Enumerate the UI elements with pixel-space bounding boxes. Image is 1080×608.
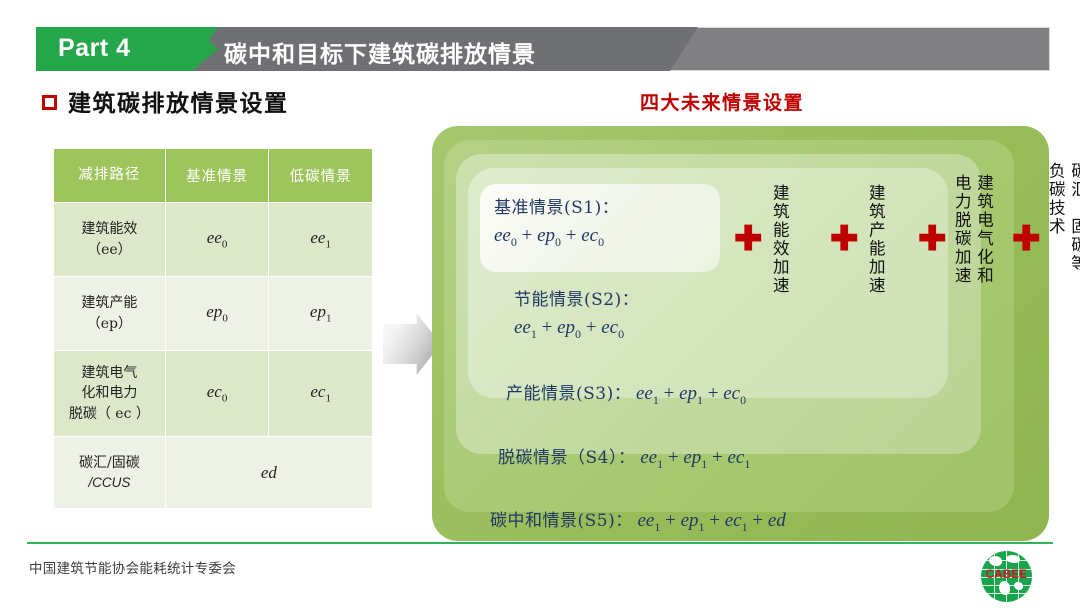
- cell-baseline-ep: ep0: [165, 277, 269, 351]
- value-ec1: ec1: [310, 382, 331, 401]
- scenario-equation-s3: ee1 + ep1 + ec0: [631, 383, 746, 404]
- plus-icon-1: ✚: [734, 222, 763, 256]
- col-header-path: 减排路径: [54, 149, 166, 203]
- slide-header-bar: Part 4 碳中和目标下建筑碳排放情景: [36, 27, 1050, 71]
- scenario-label-s1: 基准情景(S1)：: [494, 196, 619, 222]
- scenario-formula-s2: 节能情景(S2)： ee1 + ep0 + ec0: [514, 288, 639, 342]
- scenario-equation-s1: ee0 + ep0 + ec0: [494, 222, 619, 251]
- scenario-parameter-table: 减排路径 基准情景 低碳情景 建筑能效 （ee） ee0 ee1: [53, 148, 373, 509]
- plus-icon-2: ✚: [830, 222, 859, 256]
- cell-baseline-ee: ee0: [165, 203, 269, 277]
- table-row: 碳汇/固碳 /CCUS ed: [54, 437, 373, 509]
- scenario-label-s2: 节能情景(S2)：: [514, 288, 639, 314]
- value-ep0: ep0: [206, 302, 228, 321]
- scenario-formula-s5: 碳中和情景(S5)： ee1 + ep1 + ec1 + ed: [490, 506, 786, 535]
- cell-lowcarbon-ep: ep1: [269, 277, 373, 351]
- col-header-baseline: 基准情景: [165, 149, 269, 203]
- plus-icon-3: ✚: [918, 222, 947, 256]
- cell-path-ed-line2: /CCUS: [58, 473, 161, 493]
- plus-icon-4: ✚: [1012, 222, 1041, 256]
- table-row: 建筑产能 （ep） ep0 ep1: [54, 277, 373, 351]
- cell-path-ec-line1: 建筑电气: [58, 363, 161, 383]
- slide-canvas: Part 4 碳中和目标下建筑碳排放情景 建筑碳排放情景设置 四大未来情景设置 …: [0, 0, 1080, 608]
- cell-merged-ed: ed: [165, 437, 372, 509]
- scenario-equation-s4: ee1 + ep1 + ec1: [635, 447, 750, 468]
- slide-title: 碳中和目标下建筑碳排放情景: [224, 35, 536, 69]
- cell-baseline-ec: ec0: [165, 351, 269, 437]
- right-panel-heading: 四大未来情景设置: [640, 88, 804, 115]
- scenario-label-s3: 产能情景(S3)：: [506, 384, 631, 404]
- value-ed: ed: [261, 463, 277, 482]
- cell-path-ee: 建筑能效 （ee）: [54, 203, 166, 277]
- part-label: Part 4: [58, 34, 130, 63]
- driver-label-1: 建筑能效加速: [768, 184, 790, 295]
- future-scenario-panel: 基准情景(S1)： ee0 + ep0 + ec0 节能情景(S2)： ee1 …: [432, 126, 1049, 541]
- section-heading-label: 建筑碳排放情景设置: [68, 84, 289, 118]
- value-ep1: ep1: [310, 302, 332, 321]
- cell-path-ec-line3: 脱碳（ ec ）: [58, 404, 161, 424]
- scenario-formula-s1: 基准情景(S1)： ee0 + ep0 + ec0: [494, 196, 619, 250]
- scenario-formula-s4: 脱碳情景（S4）： ee1 + ep1 + ec1: [498, 443, 750, 472]
- scenario-equation-s5: ee1 + ep1 + ec1 + ed: [633, 510, 786, 531]
- cell-lowcarbon-ee: ee1: [269, 203, 373, 277]
- footer-divider: [27, 542, 1053, 544]
- cell-path-ec-line2: 化和电力: [58, 383, 161, 403]
- value-ee1: ee1: [310, 228, 331, 247]
- cell-path-ed: 碳汇/固碳 /CCUS: [54, 437, 166, 509]
- driver-label-4: 碳汇、固碳等负碳技术: [1044, 162, 1080, 274]
- table-row: 建筑能效 （ee） ee0 ee1: [54, 203, 373, 277]
- cell-path-ee-line1: 建筑能效: [58, 219, 161, 239]
- section-heading: 建筑碳排放情景设置: [42, 84, 289, 118]
- cell-path-ep: 建筑产能 （ep）: [54, 277, 166, 351]
- cell-path-ec: 建筑电气 化和电力 脱碳（ ec ）: [54, 351, 166, 437]
- bullet-square-icon: [42, 95, 57, 110]
- cabee-logo-text: CABEE: [981, 569, 1032, 581]
- driver-label-3: 建筑电气化和电力脱碳加速: [950, 174, 995, 302]
- col-header-lowcarbon: 低碳情景: [269, 149, 373, 203]
- cell-path-ed-line1: 碳汇/固碳: [58, 453, 161, 473]
- cell-path-ep-line2: （ep）: [58, 314, 161, 334]
- driver-label-2: 建筑产能加速: [864, 184, 886, 295]
- table-header-row: 减排路径 基准情景 低碳情景: [54, 149, 373, 203]
- cell-path-ee-line2: （ee）: [58, 240, 161, 260]
- scenario-formula-s3: 产能情景(S3)： ee1 + ep1 + ec0: [506, 379, 746, 408]
- scenario-label-s4: 脱碳情景（S4）：: [498, 448, 635, 468]
- value-ec0: ec0: [207, 382, 228, 401]
- scenario-equation-s2: ee1 + ep0 + ec0: [514, 314, 639, 343]
- cell-path-ep-line1: 建筑产能: [58, 293, 161, 313]
- value-ee0: ee0: [207, 228, 228, 247]
- cabee-logo: CABEE: [981, 551, 1032, 602]
- scenario-label-s5: 碳中和情景(S5)：: [490, 511, 633, 531]
- footer-organization: 中国建筑节能协会能耗统计专委会: [29, 557, 236, 577]
- cell-lowcarbon-ec: ec1: [269, 351, 373, 437]
- table-row: 建筑电气 化和电力 脱碳（ ec ） ec0 ec1: [54, 351, 373, 437]
